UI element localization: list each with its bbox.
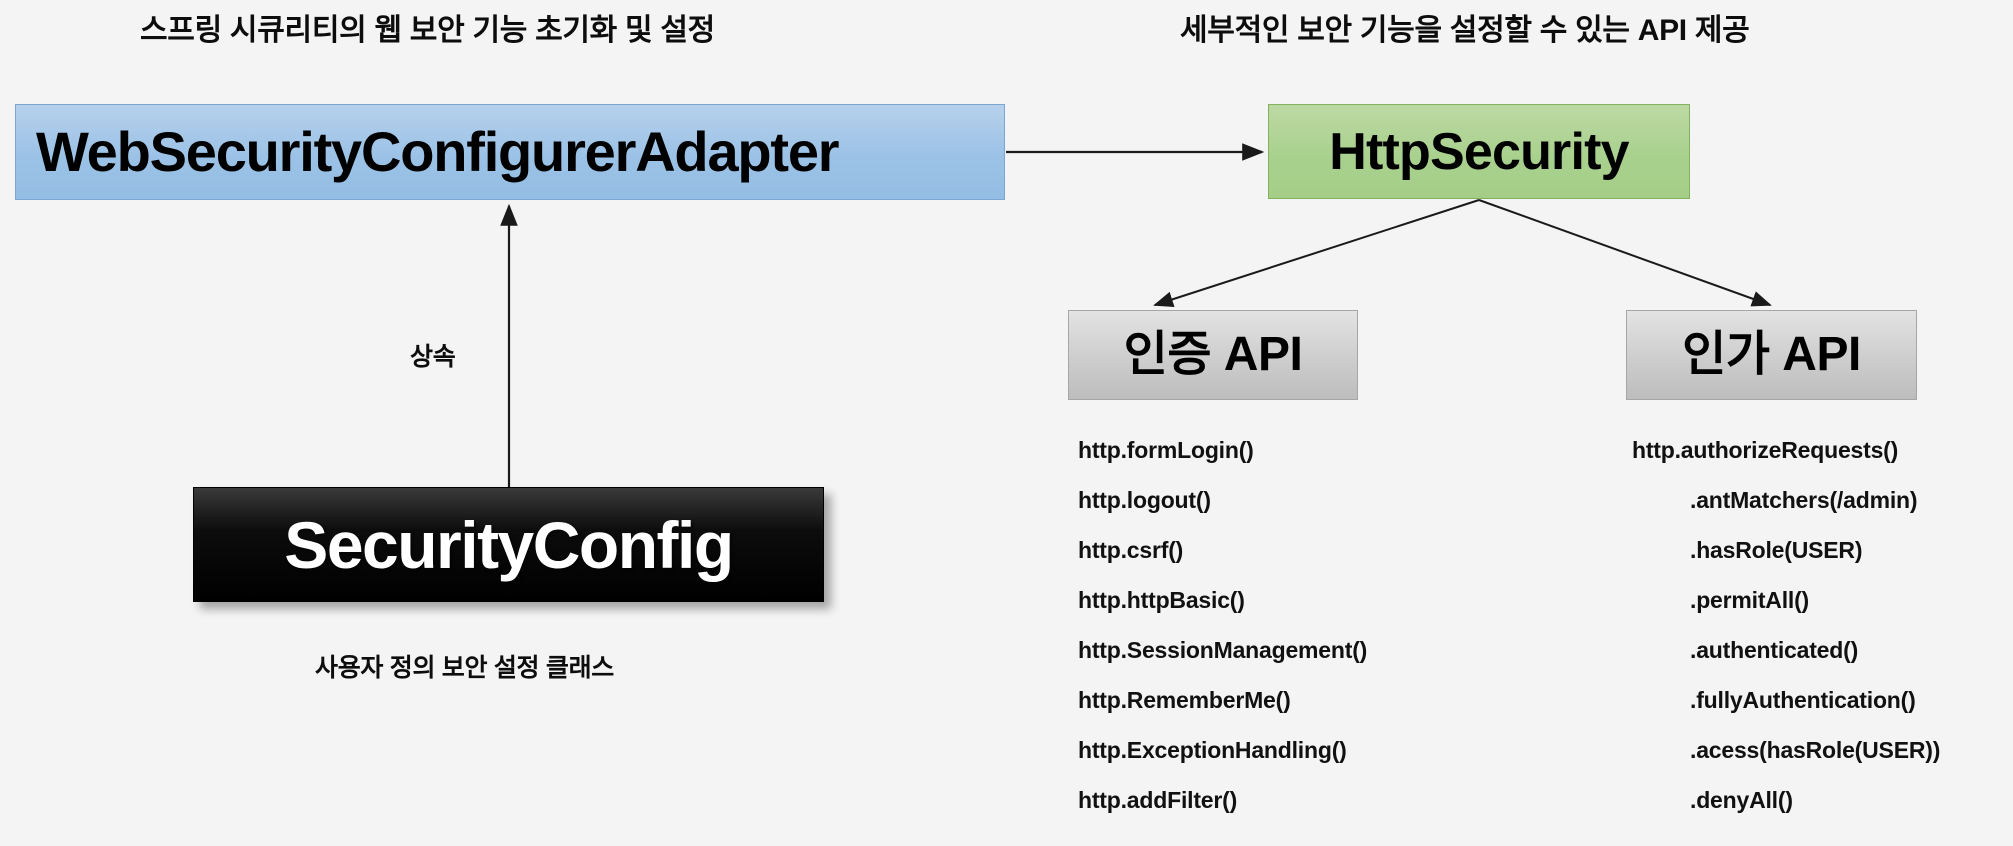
edge-label-inheritance: 상속 xyxy=(410,337,455,373)
node-authz-api-label: 인가 API xyxy=(1682,331,1861,379)
api-method-item: .hasRole(USER) xyxy=(1632,525,1940,575)
api-method-item: http.addFilter() xyxy=(1078,775,1367,825)
api-method-item: .authenticated() xyxy=(1632,625,1940,675)
caption-right-top: 세부적인 보안 기능을 설정할 수 있는 API 제공 xyxy=(1180,16,1749,46)
api-method-item: .permitAll() xyxy=(1632,575,1940,625)
edge-httpsecurity-to-authz-api xyxy=(1479,200,1770,305)
api-method-item: http.httpBasic() xyxy=(1078,575,1367,625)
api-method-item: http.csrf() xyxy=(1078,525,1367,575)
caption-left-top: 스프링 시큐리티의 웹 보안 기능 초기화 및 설정 xyxy=(140,16,715,46)
node-authz-api[interactable]: 인가 API xyxy=(1626,310,1917,400)
node-auth-api[interactable]: 인증 API xyxy=(1068,310,1358,400)
api-method-item: http.formLogin() xyxy=(1078,425,1367,475)
diagram-canvas: 스프링 시큐리티의 웹 보안 기능 초기화 및 설정 세부적인 보안 기능을 설… xyxy=(0,0,2013,846)
node-web-security-configurer-adapter[interactable]: WebSecurityConfigurerAdapter xyxy=(15,104,1005,200)
api-method-item: http.SessionManagement() xyxy=(1078,625,1367,675)
api-method-item: .denyAll() xyxy=(1632,775,1940,825)
edge-httpsecurity-to-auth-api xyxy=(1155,200,1479,305)
node-auth-api-label: 인증 API xyxy=(1124,331,1303,379)
node-web-security-configurer-adapter-label: WebSecurityConfigurerAdapter xyxy=(36,124,838,180)
node-http-security-label: HttpSecurity xyxy=(1329,126,1629,178)
api-method-item: .fullyAuthentication() xyxy=(1632,675,1940,725)
authz-api-method-list: http.authorizeRequests().antMatchers(/ad… xyxy=(1632,425,1940,825)
node-http-security[interactable]: HttpSecurity xyxy=(1268,104,1690,199)
api-method-item: http.authorizeRequests() xyxy=(1632,425,1940,475)
api-method-item: .acess(hasRole(USER)) xyxy=(1632,725,1940,775)
node-security-config[interactable]: SecurityConfig xyxy=(193,487,824,602)
api-method-item: http.logout() xyxy=(1078,475,1367,525)
node-security-config-label: SecurityConfig xyxy=(284,512,732,578)
api-method-item: http.ExceptionHandling() xyxy=(1078,725,1367,775)
api-method-item: .antMatchers(/admin) xyxy=(1632,475,1940,525)
caption-security-config: 사용자 정의 보안 설정 클래스 xyxy=(315,648,614,684)
auth-api-method-list: http.formLogin()http.logout()http.csrf()… xyxy=(1078,425,1367,825)
api-method-item: http.RememberMe() xyxy=(1078,675,1367,725)
